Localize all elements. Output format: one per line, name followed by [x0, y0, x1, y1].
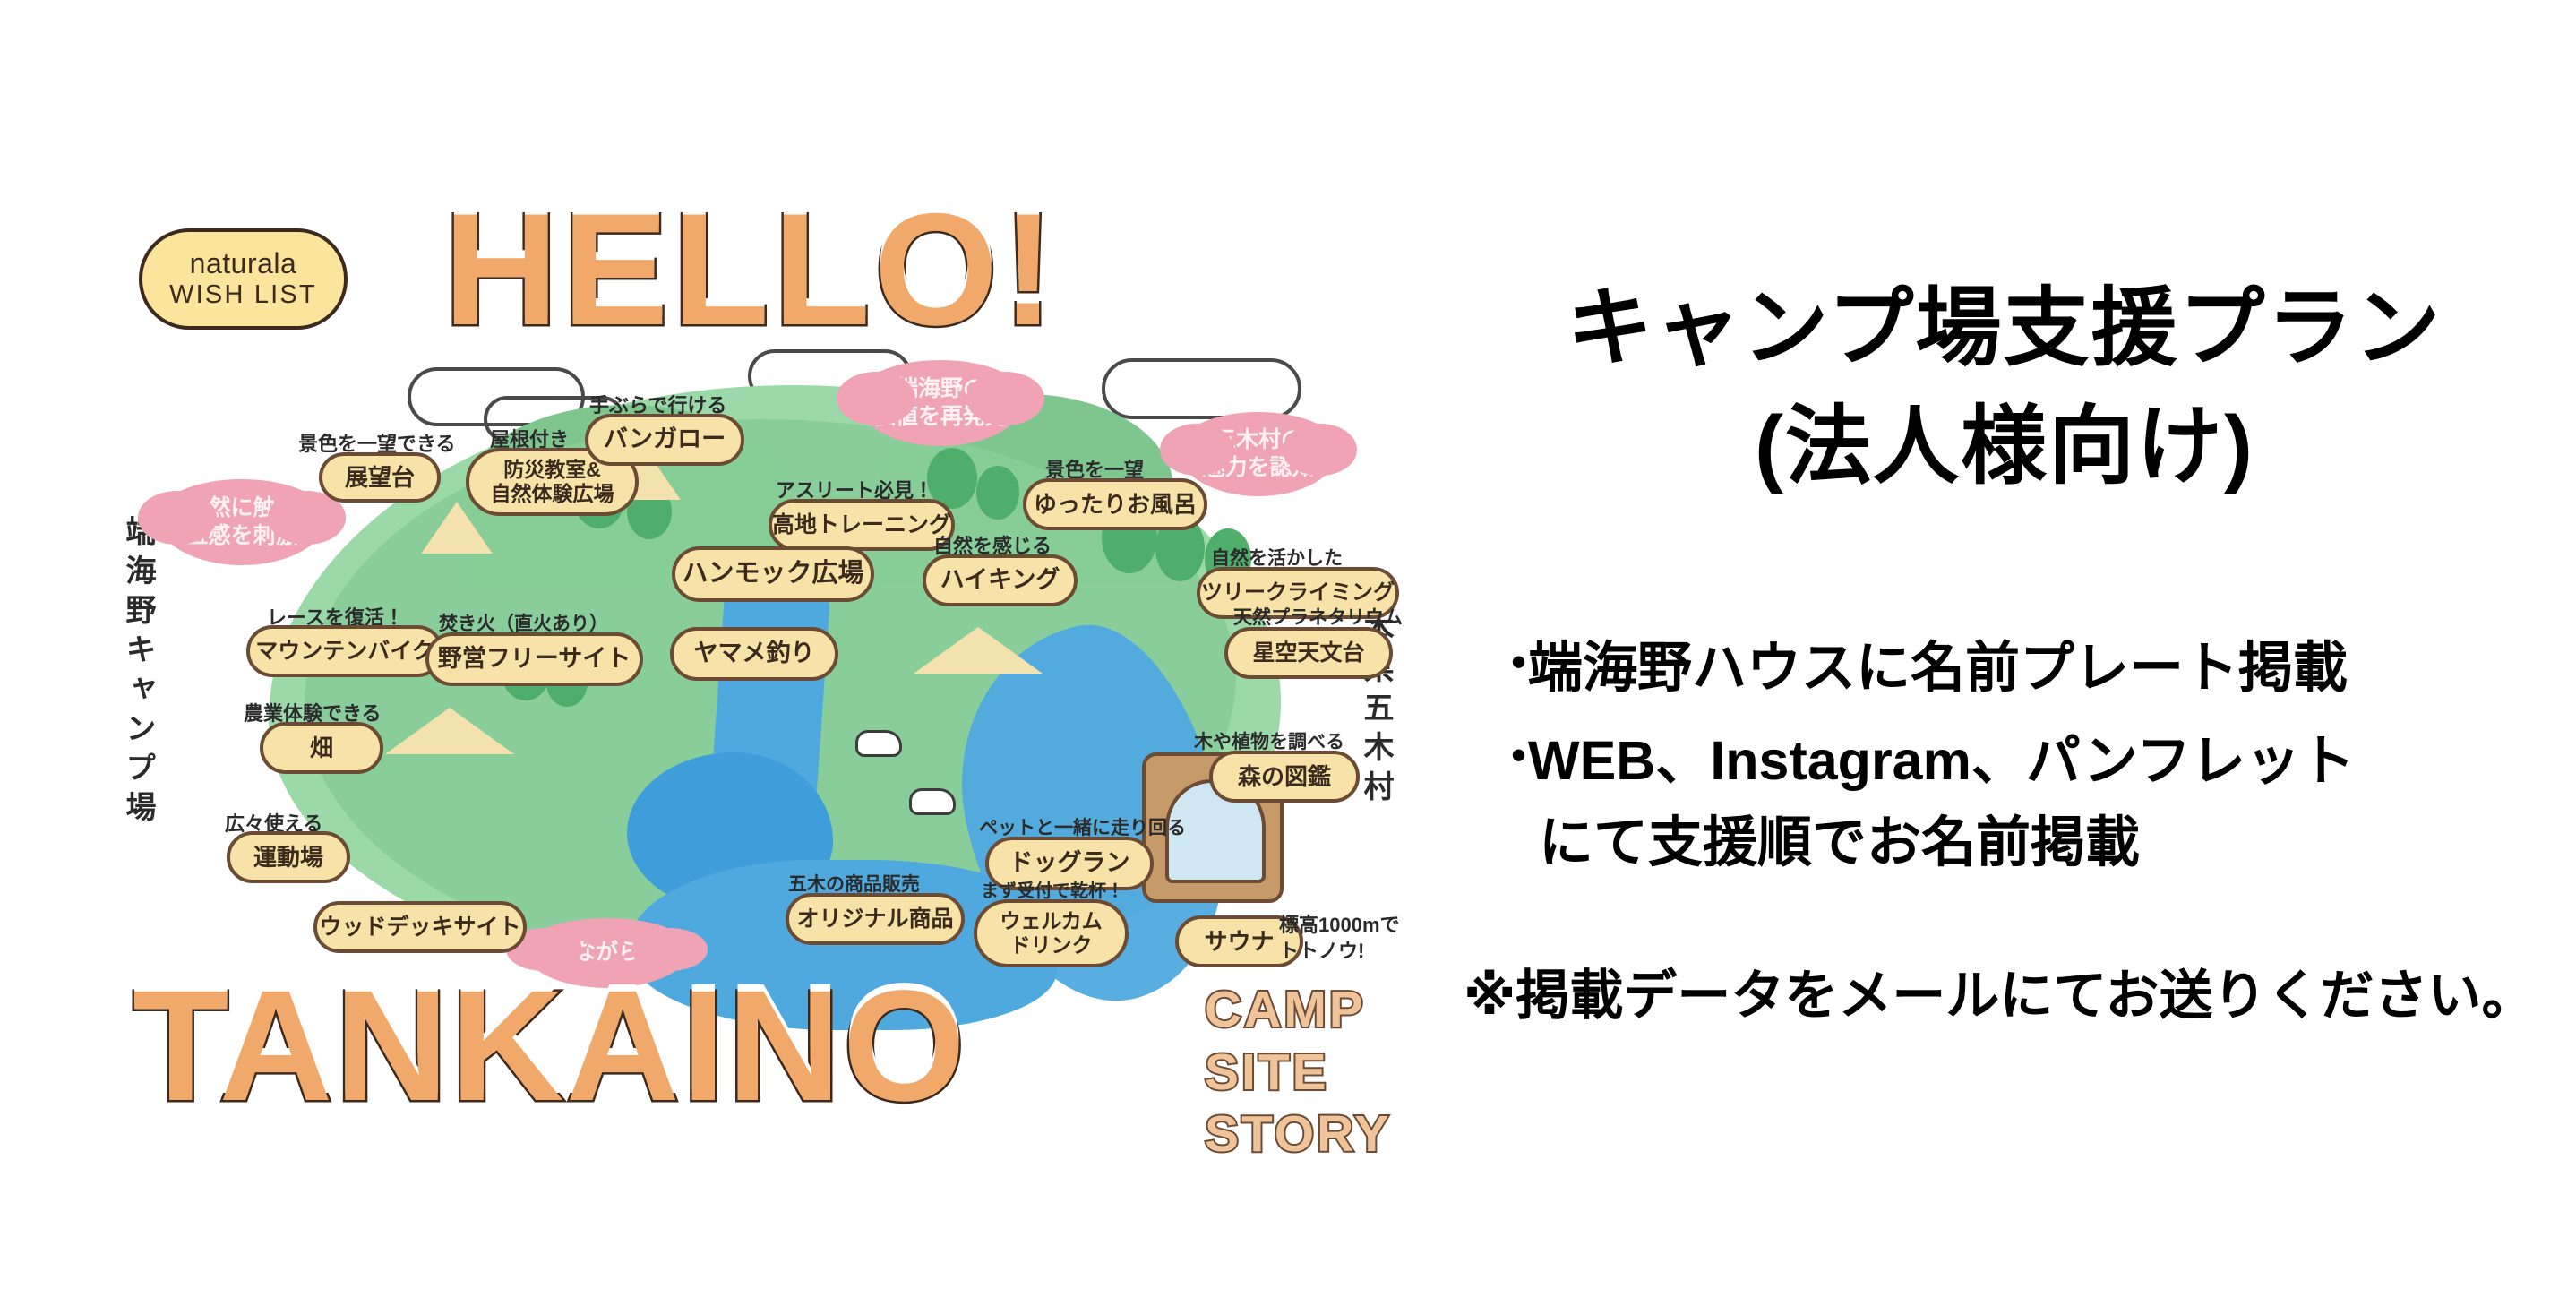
- hello-headline: HELLO!: [443, 190, 1058, 349]
- map-pill-original-shouhin[interactable]: オリジナル商品: [786, 893, 965, 945]
- pink-cloud-3-line2: 魅力を認知: [1202, 454, 1314, 482]
- naturala-wish-list-badge: naturala WISH LIST: [139, 228, 348, 330]
- map-pill-label-12: 森の図鑑: [1238, 763, 1331, 790]
- map-pill-label-15: ウッドデッキサイト: [320, 915, 521, 941]
- pink-cloud-2-line2: 価値を再発見: [873, 403, 1008, 431]
- benefit-list: ・ 端海野ハウスに名前プレート掲載 ・ WEB、Instagram、パンフレット…: [1494, 627, 2560, 895]
- benefit-item-2: ・ WEB、Instagram、パンフレット にて支援順でお名前掲載: [1494, 720, 2560, 882]
- pink-cloud-1-line1: 自然に触れ: [185, 494, 297, 522]
- map-pill-label-19: サウナ: [1204, 928, 1274, 955]
- map-pill-mori-no-zukan[interactable]: 森の図鑑: [1209, 751, 1360, 803]
- map-pill-hatake[interactable]: 畑: [260, 722, 383, 774]
- bullet-marker-icon: ・: [1494, 627, 1528, 701]
- poster-page: naturala WISH LIST HELLO! 端海野キャンプ場 熊本県五木…: [0, 0, 2576, 1306]
- badge-brand: naturala: [190, 248, 297, 280]
- map-pill-mountain-bike[interactable]: マウンテンバイク: [246, 625, 443, 677]
- panel-title-line2: (法人様向け): [1433, 376, 2576, 501]
- badge-subtitle: WISH LIST: [169, 280, 317, 309]
- benefit-item-2-line1: WEB、Instagram、パンフレット: [1528, 730, 2355, 791]
- dog-icon-1: [855, 730, 902, 757]
- panel-title-line1: キャンプ場支援プラン: [1433, 258, 2576, 382]
- map-pill-label-0: 展望台: [345, 464, 415, 491]
- benefit-item-1: ・ 端海野ハウスに名前プレート掲載: [1494, 627, 2560, 708]
- pink-cloud-1: 自然に触れ 五感を刺激: [157, 479, 327, 565]
- pink-cloud-3: 五木村の 魅力を認知: [1178, 412, 1339, 496]
- vertical-caption-left: 端海野キャンプ場: [116, 515, 160, 830]
- doodle-cloud-4: [1102, 358, 1301, 419]
- camp-word: CAMP: [1205, 979, 1391, 1042]
- illustrated-map-poster: naturala WISH LIST HELLO! 端海野キャンプ場 熊本県五木…: [0, 0, 1433, 1306]
- map-pill-label-13: 畑: [310, 735, 333, 761]
- map-pill-label-3: 高地トレーニング: [772, 512, 951, 538]
- map-pill-label-2: バンガロー: [604, 425, 726, 453]
- map-pill-label-6: ツリークライミング: [1201, 580, 1395, 606]
- tree-cluster-4: [976, 466, 1019, 520]
- map-pill-label-9: ヤマメ釣り: [694, 640, 815, 667]
- benefit-item-2-line2: にて支援順でお名前掲載: [1528, 802, 2560, 882]
- tankaino-wordmark: TANKAINO: [133, 967, 967, 1125]
- site-word: SITE: [1205, 1042, 1391, 1104]
- map-pill-welcome-drink[interactable]: ウェルカム ドリンク: [974, 899, 1129, 967]
- map-pill-label-11: 星空天文台: [1252, 640, 1364, 666]
- map-pill-label-16: ドッグラン: [1009, 849, 1130, 877]
- map-pill-kouchi-training[interactable]: 高地トレーニング: [769, 499, 955, 551]
- support-plan-panel: キャンプ場支援プラン (法人様向け) ・ 端海野ハウスに名前プレート掲載 ・ W…: [1433, 0, 2576, 1306]
- gazebo-icon-1: [914, 627, 1043, 674]
- gazebo-icon-2: [385, 708, 514, 754]
- map-pill-label-18: ウェルカム ドリンク: [1000, 909, 1102, 957]
- benefit-item-2-text: WEB、Instagram、パンフレット にて支援順でお名前掲載: [1528, 720, 2560, 882]
- map-pill-label-1: 防災教室& 自然体験広場: [491, 458, 614, 505]
- map-caption-11: 天然プラネタリウム: [1233, 603, 1403, 630]
- pink-cloud-3-line1: 五木村の: [1214, 426, 1303, 454]
- map-pill-yamame-tsuri[interactable]: ヤマメ釣り: [670, 627, 838, 681]
- map-caption-18: まず受付で乾杯！: [981, 876, 1124, 902]
- map-pill-label-4: ハンモック広場: [683, 559, 864, 589]
- map-pill-label-8: 野営フリーサイト: [438, 645, 631, 673]
- map-pill-label-14: 運動場: [253, 844, 323, 871]
- map-pill-bungalow[interactable]: バンガロー: [585, 414, 744, 466]
- map-pill-label-5: ゆったりお風呂: [1034, 491, 1197, 518]
- map-pill-ofuro[interactable]: ゆったりお風呂: [1023, 478, 1207, 530]
- pink-cloud-1-line2: 五感を刺激: [185, 522, 297, 550]
- map-pill-label-17: オリジナル商品: [797, 906, 954, 932]
- map-pill-wood-deck-site[interactable]: ウッドデッキサイト: [313, 901, 527, 953]
- submission-note: ※掲載データをメールにてお送りください。: [1464, 961, 2574, 1031]
- map-pill-label-10: ハイキング: [940, 566, 1060, 594]
- map-pill-hammock-hiroba[interactable]: ハンモック広場: [672, 546, 874, 602]
- story-word: STORY: [1205, 1104, 1391, 1166]
- map-pill-undoujou[interactable]: 運動場: [227, 831, 350, 883]
- map-caption-19: 標高1000mで トトノウ!: [1279, 912, 1400, 964]
- map-pill-hoshizora-tenmondai[interactable]: 星空天文台: [1224, 627, 1393, 679]
- map-pill-hiking[interactable]: ハイキング: [923, 554, 1078, 606]
- map-pill-yaei-free-site[interactable]: 野営フリーサイト: [425, 632, 643, 686]
- benefit-item-1-text: 端海野ハウスに名前プレート掲載: [1528, 627, 2560, 708]
- pink-cloud-2-line1: 端海野の: [896, 375, 985, 403]
- dog-icon-2: [909, 788, 956, 815]
- bullet-marker-icon-2: ・: [1494, 720, 1528, 795]
- camp-site-story-wordmark: CAMP SITE STORY: [1205, 979, 1391, 1166]
- map-pill-label-7: マウンテンバイク: [255, 639, 434, 665]
- map-pill-tenboudai[interactable]: 展望台: [319, 452, 441, 503]
